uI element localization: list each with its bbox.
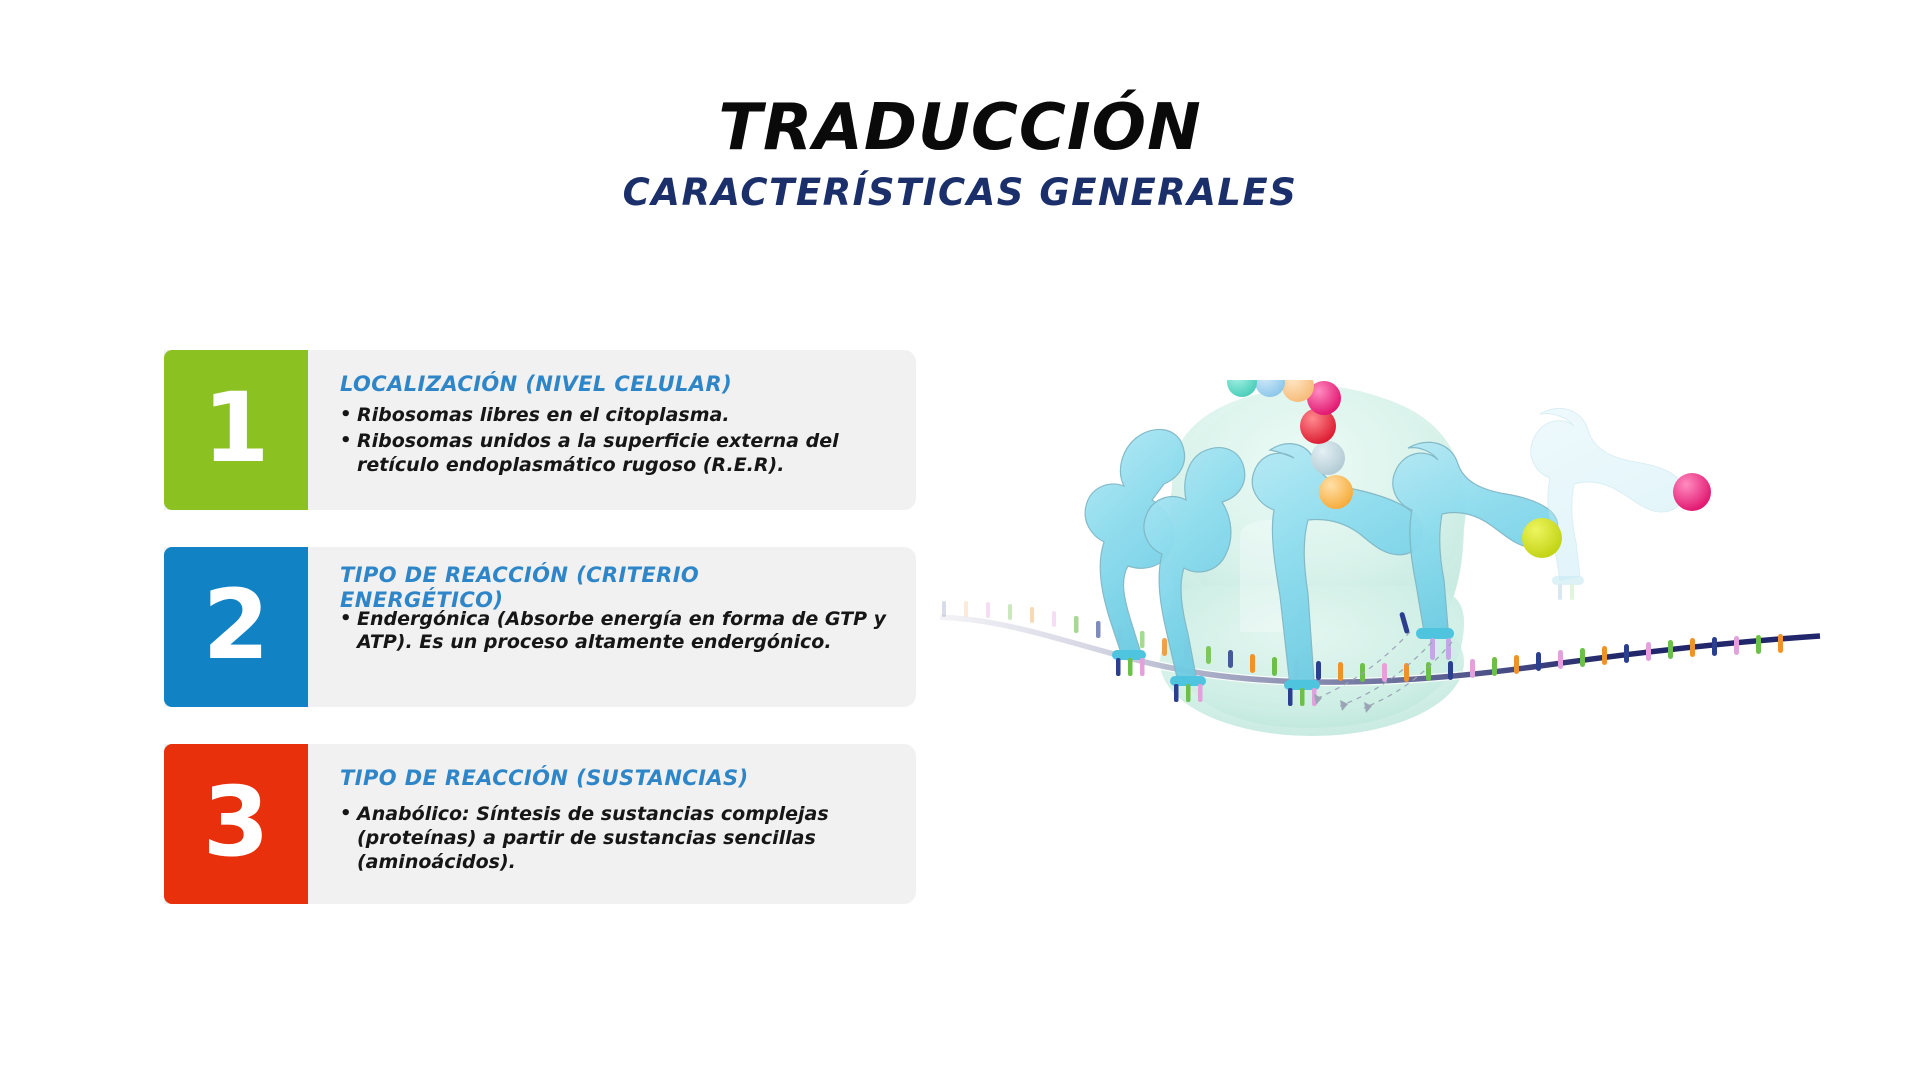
feature-card-1: 1 LOCALIZACIÓN (NIVEL CELULAR) Ribosomas… (164, 350, 916, 510)
ribosome-translation-illustration (940, 380, 1900, 860)
page-subtitle: CARACTERÍSTICAS GENERALES (0, 174, 1920, 211)
card-number-2: 2 (203, 577, 270, 673)
list-item: Endergónica (Absorbe energía en forma de… (340, 608, 900, 656)
card-bullets-1: Ribosomas libres en el citoplasma. Ribos… (340, 404, 900, 478)
feature-card-2: 2 TIPO DE REACCIÓN (CRITERIO ENERGÉTICO)… (164, 547, 916, 707)
list-item: Ribosomas libres en el citoplasma. (340, 404, 900, 428)
anticodon-1 (1112, 650, 1146, 676)
card-number-badge-3: 3 (164, 744, 308, 904)
anticodon-3 (1284, 680, 1320, 706)
amino-acid-sphere (1319, 475, 1353, 509)
card-heading-1: LOCALIZACIÓN (NIVEL CELULAR) (340, 350, 900, 397)
amino-acid-sphere-pink (1673, 473, 1711, 511)
feature-card-3: 3 TIPO DE REACCIÓN (SUSTANCIAS) Anabólic… (164, 744, 916, 904)
card-heading-3: TIPO DE REACCIÓN (SUSTANCIAS) (340, 744, 900, 791)
amino-acid-sphere (1227, 380, 1257, 397)
feature-card-list: 1 LOCALIZACIÓN (NIVEL CELULAR) Ribosomas… (164, 350, 916, 941)
trna-molecule-5-exiting (1531, 408, 1684, 600)
page-title: TRADUCCIÓN (0, 96, 1920, 160)
title-block: TRADUCCIÓN CARACTERÍSTICAS GENERALES (0, 96, 1920, 211)
amino-acid-sphere (1311, 441, 1345, 475)
amino-acid-sphere-lime (1522, 518, 1562, 558)
card-bullets-3: Anabólico: Síntesis de sustancias comple… (340, 803, 900, 875)
card-body-1: LOCALIZACIÓN (NIVEL CELULAR) Ribosomas l… (340, 350, 900, 510)
slide-root: TRADUCCIÓN CARACTERÍSTICAS GENERALES 1 L… (0, 0, 1920, 1080)
card-bullets-2: Endergónica (Absorbe energía en forma de… (340, 608, 900, 656)
list-item: Anabólico: Síntesis de sustancias comple… (340, 803, 900, 875)
card-heading-2: TIPO DE REACCIÓN (CRITERIO ENERGÉTICO) (340, 547, 760, 613)
card-body-2: TIPO DE REACCIÓN (CRITERIO ENERGÉTICO) E… (340, 547, 900, 707)
card-number-badge-1: 1 (164, 350, 308, 510)
card-number-badge-2: 2 (164, 547, 308, 707)
list-item: Ribosomas unidos a la superficie externa… (340, 430, 900, 478)
anticodon-2 (1170, 676, 1206, 702)
card-body-3: TIPO DE REACCIÓN (SUSTANCIAS) Anabólico:… (340, 744, 900, 904)
card-number-3: 3 (203, 774, 270, 870)
card-number-1: 1 (203, 380, 270, 476)
